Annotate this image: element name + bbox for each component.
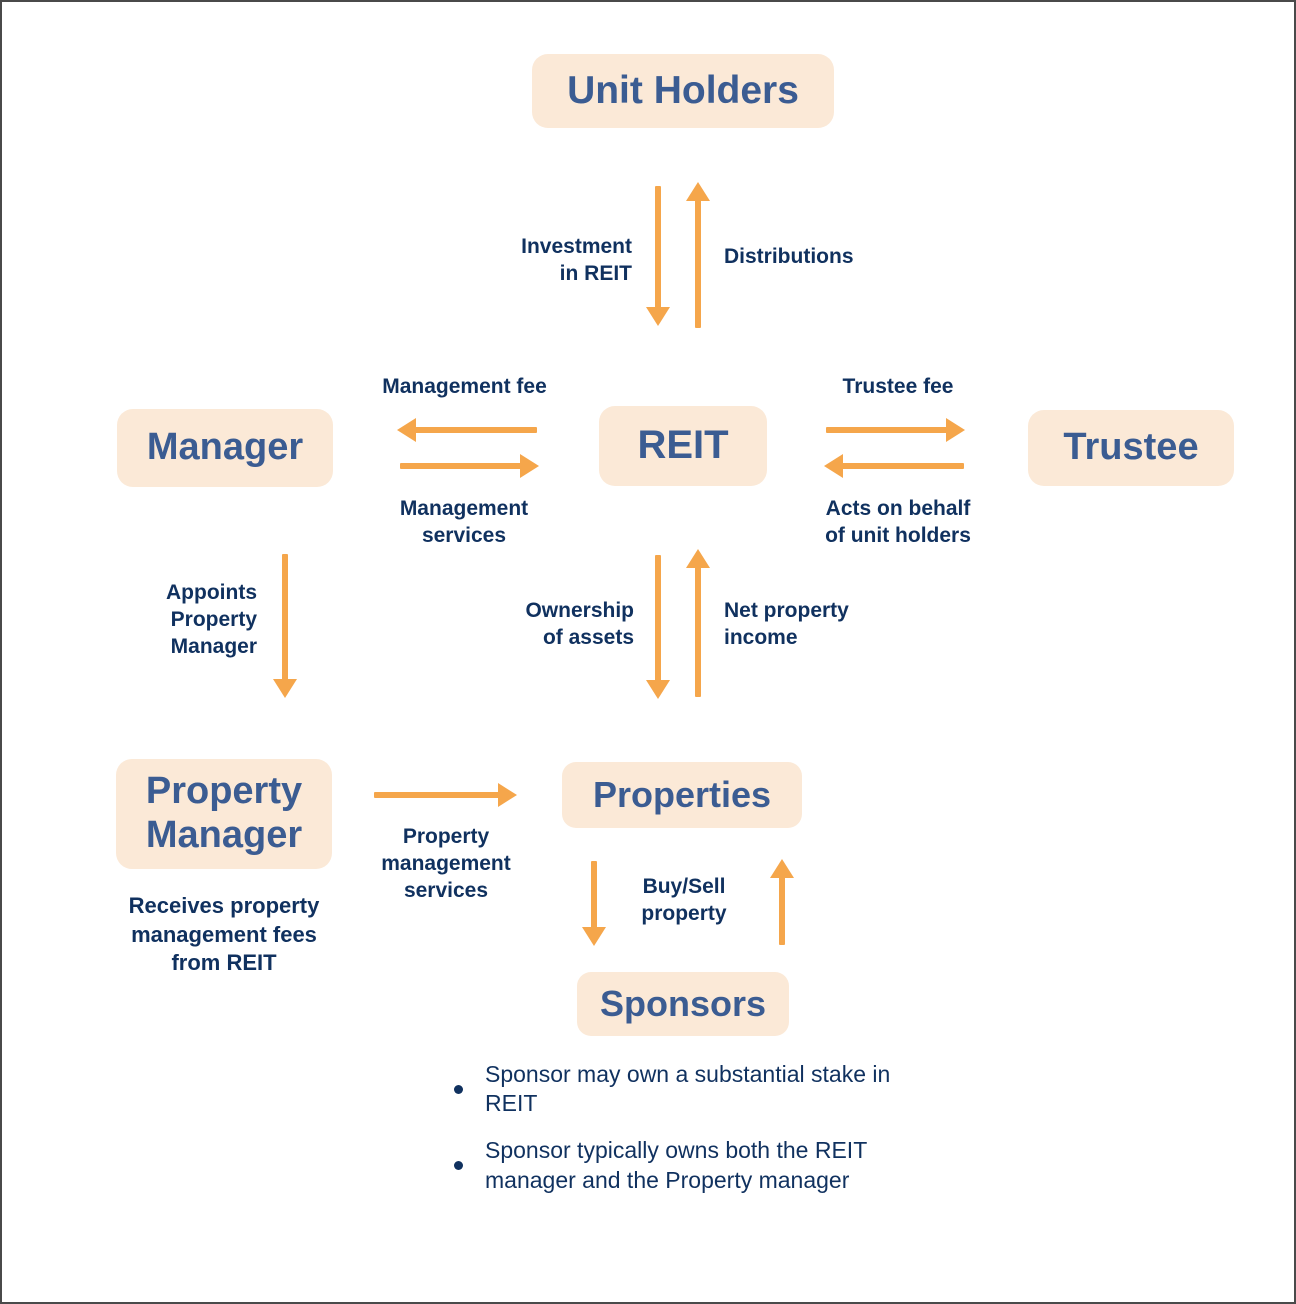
arrow-buy-sell-down — [591, 861, 597, 929]
label-property-management-services: Property management services — [355, 824, 537, 905]
node-manager-label: Manager — [147, 427, 303, 468]
arrowhead-buy-sell-down — [582, 927, 606, 946]
arrow-distributions — [695, 200, 701, 328]
arrowhead-buy-sell-up — [770, 859, 794, 878]
node-trustee-label: Trustee — [1063, 427, 1198, 468]
arrow-investment-in-reit — [655, 186, 661, 308]
arrow-appoints-property-manager — [282, 554, 288, 680]
node-trustee[interactable]: Trustee — [1028, 410, 1234, 486]
label-management-fee: Management fee — [332, 374, 597, 401]
arrowhead-ownership-of-assets-down — [646, 680, 670, 699]
list-item-text: Sponsor may own a substantial stake in R… — [485, 1060, 914, 1118]
arrowhead-management-fee-left — [397, 418, 416, 442]
node-property-manager-label-line1: Property — [146, 770, 302, 814]
node-sponsors-label: Sponsors — [600, 985, 766, 1024]
label-distributions: Distributions — [724, 244, 964, 271]
bullet-dot-icon — [454, 1085, 463, 1094]
label-acts-on-behalf: Acts on behalf of unit holders — [768, 496, 1028, 550]
label-appoints-property-manager: Appoints Property Manager — [82, 580, 257, 661]
arrow-property-management-services — [374, 792, 500, 798]
node-reit-label: REIT — [637, 424, 728, 467]
arrow-trustee-fee — [826, 427, 948, 433]
label-ownership-of-assets: Ownership of assets — [422, 598, 634, 652]
node-unit-holders[interactable]: Unit Holders — [532, 54, 834, 128]
node-properties-label: Properties — [593, 776, 771, 815]
node-manager[interactable]: Manager — [117, 409, 333, 487]
arrow-ownership-of-assets — [655, 555, 661, 681]
arrowhead-management-services-right — [520, 454, 539, 478]
node-properties[interactable]: Properties — [562, 762, 802, 828]
list-item: Sponsor may own a substantial stake in R… — [454, 1060, 914, 1118]
arrowhead-acts-on-behalf-left — [824, 454, 843, 478]
arrow-net-property-income — [695, 567, 701, 697]
sponsor-notes-list: Sponsor may own a substantial stake in R… — [454, 1060, 914, 1213]
label-net-property-income: Net property income — [724, 598, 964, 652]
label-management-services: Management services — [334, 496, 594, 550]
node-property-manager[interactable]: Property Manager — [116, 759, 332, 869]
node-property-manager-label-line2: Manager — [146, 814, 302, 858]
label-trustee-fee: Trustee fee — [772, 374, 1024, 401]
arrow-management-fee — [415, 427, 537, 433]
arrowhead-property-management-services-right — [498, 783, 517, 807]
arrowhead-distributions-up — [686, 182, 710, 201]
arrowhead-appoints-property-manager-down — [273, 679, 297, 698]
node-sponsors[interactable]: Sponsors — [577, 972, 789, 1036]
note-property-manager: Receives property management fees from R… — [102, 892, 346, 978]
arrowhead-trustee-fee-right — [946, 418, 965, 442]
arrowhead-investment-in-reit-down — [646, 307, 670, 326]
list-item: Sponsor typically owns both the REIT man… — [454, 1136, 914, 1194]
node-reit[interactable]: REIT — [599, 406, 767, 486]
arrow-management-services — [400, 463, 522, 469]
arrowhead-net-property-income-up — [686, 549, 710, 568]
label-buy-sell-property: Buy/Sell property — [614, 874, 754, 928]
node-unit-holders-label: Unit Holders — [567, 70, 799, 112]
reit-structure-diagram: Unit Holders Investment in REIT Distribu… — [0, 0, 1296, 1304]
label-investment-in-reit: Investment in REIT — [422, 234, 632, 288]
arrow-buy-sell-up — [779, 877, 785, 945]
bullet-dot-icon — [454, 1161, 463, 1170]
list-item-text: Sponsor typically owns both the REIT man… — [485, 1136, 914, 1194]
arrow-acts-on-behalf — [842, 463, 964, 469]
